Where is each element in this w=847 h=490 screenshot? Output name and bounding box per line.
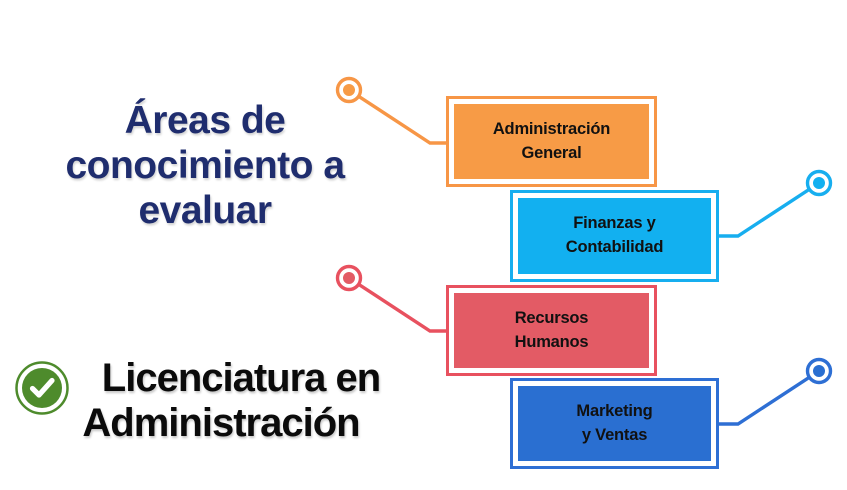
circle-node-icon-rrhh [338, 267, 361, 290]
area-box-label-finanzas-contabilidad: Finanzas y Contabilidad [566, 212, 664, 260]
program-subtitle-line-2: Administración [28, 401, 414, 446]
program-subtitle: Licenciatura en Administración [14, 356, 414, 446]
circle-node-dot-admin [343, 84, 355, 96]
area-box-finanzas-contabilidad[interactable]: Finanzas y Contabilidad [510, 190, 719, 282]
area-label-line-2: y Ventas [582, 426, 647, 444]
area-box-marketing-ventas[interactable]: Marketing y Ventas [510, 378, 719, 469]
program-subtitle-text: Licenciatura en Administración [68, 356, 414, 446]
area-label-line-1: Recursos [515, 309, 589, 327]
area-box-recursos-humanos[interactable]: Recursos Humanos [446, 285, 657, 376]
area-box-label-marketing-ventas: Marketing y Ventas [576, 400, 652, 448]
slide-canvas: Áreas de conocimiento a evaluar Licencia… [0, 0, 847, 490]
area-label-line-1: Marketing [576, 402, 652, 420]
area-label-line-2: General [521, 144, 581, 162]
area-box-fill-marketing-ventas: Marketing y Ventas [513, 381, 716, 466]
area-box-label-recursos-humanos: Recursos Humanos [515, 307, 589, 355]
area-label-line-2: Humanos [515, 333, 589, 351]
area-box-label-administracion-general: Administración General [493, 118, 610, 166]
circle-node-icon-finanzas [808, 172, 831, 195]
connector-rrhh [338, 267, 447, 332]
connector-marketing [719, 360, 831, 425]
area-box-fill-finanzas-contabilidad: Finanzas y Contabilidad [513, 193, 716, 279]
area-label-line-1: Administración [493, 120, 610, 138]
connector-finanzas [719, 172, 831, 237]
circle-node-icon-marketing [808, 360, 831, 383]
area-box-fill-administracion-general: Administración General [449, 99, 654, 184]
area-box-administracion-general[interactable]: Administración General [446, 96, 657, 187]
circle-node-dot-marketing [813, 365, 825, 377]
page-title-line-1: Áreas de [125, 99, 286, 142]
area-label-line-1: Finanzas y [573, 214, 655, 232]
page-title: Áreas de conocimiento a evaluar [20, 98, 390, 234]
area-label-line-2: Contabilidad [566, 238, 664, 256]
circle-node-dot-rrhh [343, 272, 355, 284]
page-title-line-2: conocimiento a [65, 144, 344, 187]
circle-node-dot-finanzas [813, 177, 825, 189]
program-subtitle-line-1: Licenciatura en [102, 356, 380, 400]
area-box-fill-recursos-humanos: Recursos Humanos [449, 288, 654, 373]
page-title-line-3: evaluar [138, 189, 271, 232]
